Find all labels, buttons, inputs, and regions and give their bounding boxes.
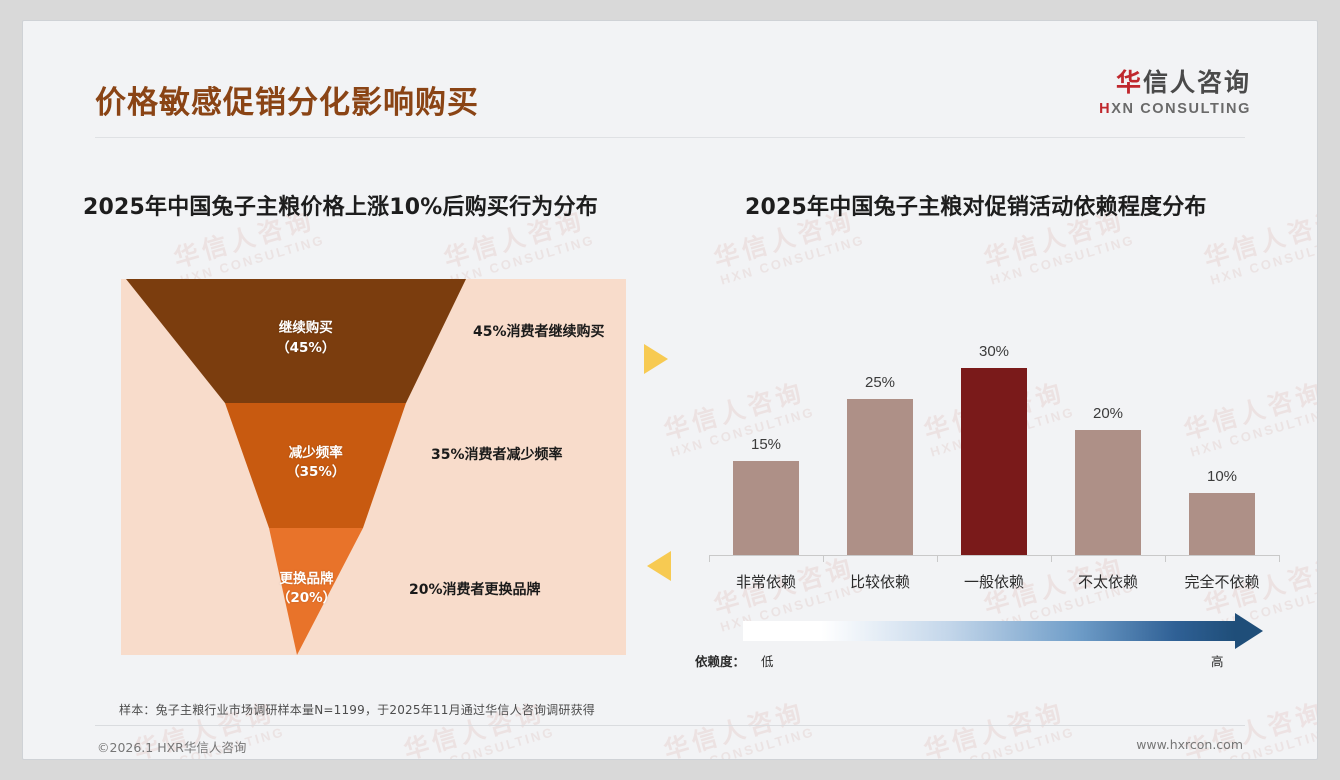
x-axis-tick xyxy=(1279,555,1280,562)
bar-value-label: 25% xyxy=(823,374,937,391)
bar-category-label: 比较依赖 xyxy=(823,571,937,592)
logo-chinese-red: 华 xyxy=(1116,68,1143,97)
bar[interactable] xyxy=(1075,430,1141,555)
legend-low-label: 低 xyxy=(761,651,774,670)
funnel-segment-pct: （45%） xyxy=(276,340,335,356)
company-logo: 华信人咨询 HXN CONSULTING xyxy=(1099,69,1251,117)
footer-copyright: ©2026.1 HXR华信人咨询 xyxy=(97,737,246,756)
right-panel-heading: 2025年中国兔子主粮对促销活动依赖程度分布 xyxy=(745,189,1207,221)
bar[interactable] xyxy=(847,399,913,555)
funnel-segment-description: 35%消费者减少频率 xyxy=(431,444,563,464)
dependency-bar-chart: 15%非常依赖25%比较依赖30%一般依赖20%不太依赖10%完全不依赖 xyxy=(695,301,1295,601)
play-right-icon xyxy=(642,342,672,376)
bar-value-label: 30% xyxy=(937,343,1051,360)
dependency-gradient-legend: 依赖度： 低 高 xyxy=(695,617,1295,679)
header-divider xyxy=(95,137,1245,138)
bar-category-label: 一般依赖 xyxy=(937,571,1051,592)
bar-category-label: 非常依赖 xyxy=(709,571,823,592)
source-note: 样本：兔子主粮行业市场调研样本量N=1199，于2025年11月通过华信人咨询调… xyxy=(119,701,595,718)
x-axis-tick xyxy=(709,555,710,562)
gradient-bar xyxy=(743,621,1235,641)
footer-website: www.hxrcon.com xyxy=(1136,737,1243,752)
funnel-segment-label: 更换品牌（20%） xyxy=(247,570,367,609)
funnel-segment-name: 继续购买 xyxy=(279,320,333,336)
legend-high-label: 高 xyxy=(1211,651,1224,670)
slide-canvas: 华信人咨询HXN CONSULTING华信人咨询HXN CONSULTING华信… xyxy=(22,20,1318,760)
funnel-segment-pct: （35%） xyxy=(286,464,345,480)
bar-value-label: 20% xyxy=(1051,405,1165,422)
page-title: 价格敏感促销分化影响购买 xyxy=(95,77,479,122)
legend-title: 依赖度： xyxy=(695,651,745,670)
x-axis-tick xyxy=(1051,555,1052,562)
logo-chinese-rest: 信人咨询 xyxy=(1143,68,1251,97)
play-left-icon xyxy=(644,549,674,583)
bar-value-label: 10% xyxy=(1165,468,1279,485)
funnel-chart: 继续购买（45%）减少频率（35%）更换品牌（20%）45%消费者继续购买35%… xyxy=(121,279,626,655)
funnel-segment-description: 45%消费者继续购买 xyxy=(473,321,605,341)
funnel-segment-pct: （20%） xyxy=(277,590,336,606)
slide-header: 价格敏感促销分化影响购买 华信人咨询 HXN CONSULTING xyxy=(23,21,1317,147)
funnel-segment-name: 减少频率 xyxy=(289,445,343,461)
logo-english-red: H xyxy=(1099,101,1111,117)
logo-english: HXN CONSULTING xyxy=(1099,101,1251,117)
watermark: 华信人咨询HXN CONSULTING xyxy=(1199,199,1317,287)
bar-category-label: 不太依赖 xyxy=(1051,571,1165,592)
bar[interactable] xyxy=(1189,493,1255,555)
bar[interactable] xyxy=(961,368,1027,555)
funnel-segment-label: 减少频率（35%） xyxy=(256,444,376,483)
gradient-arrow-head xyxy=(1235,613,1263,649)
x-axis-line xyxy=(709,555,1279,556)
funnel-segment-label: 继续购买（45%） xyxy=(246,319,366,358)
bar[interactable] xyxy=(733,461,799,555)
logo-english-rest: XN CONSULTING xyxy=(1111,101,1251,117)
funnel-segment-description: 20%消费者更换品牌 xyxy=(409,579,541,599)
bar-category-label: 完全不依赖 xyxy=(1165,571,1279,592)
x-axis-tick xyxy=(823,555,824,562)
logo-chinese: 华信人咨询 xyxy=(1099,69,1251,98)
footer-divider-top xyxy=(95,725,1245,726)
funnel-segment-name: 更换品牌 xyxy=(280,571,334,587)
left-panel-heading: 2025年中国兔子主粮价格上涨10%后购买行为分布 xyxy=(83,189,598,221)
x-axis-tick xyxy=(937,555,938,562)
x-axis-tick xyxy=(1165,555,1166,562)
bar-value-label: 15% xyxy=(709,436,823,453)
